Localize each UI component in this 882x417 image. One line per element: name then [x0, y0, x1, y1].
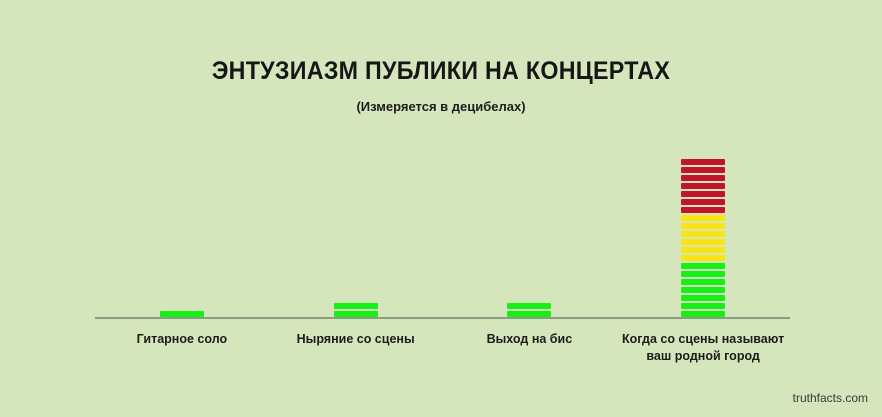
bar-segment-yellow [681, 231, 725, 237]
category-label-line: Выход на бис [429, 331, 629, 348]
category-label-line: Гитарное соло [82, 331, 282, 348]
x-axis-line [95, 317, 790, 319]
category-label: Выход на бис [429, 331, 629, 348]
bar-segment-red [681, 191, 725, 197]
category-label-line: Ныряние со сцены [256, 331, 456, 348]
bar-segment-red [681, 175, 725, 181]
bar-segment-red [681, 167, 725, 173]
bar-segment-green [334, 311, 378, 317]
bar-segment-stack [160, 309, 204, 317]
bar-segment-green [681, 295, 725, 301]
bar-segment-yellow [681, 215, 725, 221]
bar-column [102, 309, 262, 317]
watermark: truthfacts.com [793, 391, 868, 405]
bar-column [623, 157, 783, 317]
bar-segment-stack [507, 301, 551, 317]
category-label: Гитарное соло [82, 331, 282, 348]
bar-column [276, 301, 436, 317]
category-label-group: Гитарное солоНыряние со сценыВыход на би… [95, 331, 790, 381]
poster: ЭНТУЗИАЗМ ПУБЛИКИ НА КОНЦЕРТАХ (Измеряет… [0, 0, 882, 417]
bar-segment-red [681, 159, 725, 165]
bar-column [449, 301, 609, 317]
bar-segment-green [334, 303, 378, 309]
bar-segment-green [507, 303, 551, 309]
category-label: Когда со сцены называютваш родной город [603, 331, 803, 365]
bar-group [95, 110, 790, 317]
bar-segment-green [160, 311, 204, 317]
bar-segment-green [681, 263, 725, 269]
bar-segment-yellow [681, 255, 725, 261]
bar-segment-green [681, 287, 725, 293]
bar-segment-red [681, 207, 725, 213]
bar-segment-green [681, 303, 725, 309]
category-label: Ныряние со сцены [256, 331, 456, 348]
category-label-line: Когда со сцены называют [603, 331, 803, 348]
bar-segment-stack [334, 301, 378, 317]
bar-segment-yellow [681, 223, 725, 229]
bar-segment-green [681, 279, 725, 285]
bar-segment-green [681, 311, 725, 317]
bar-segment-red [681, 183, 725, 189]
bar-segment-yellow [681, 247, 725, 253]
bar-segment-stack [681, 157, 725, 317]
bar-segment-red [681, 199, 725, 205]
bar-segment-green [507, 311, 551, 317]
bar-segment-yellow [681, 239, 725, 245]
bar-segment-green [681, 271, 725, 277]
category-label-line: ваш родной город [603, 348, 803, 365]
